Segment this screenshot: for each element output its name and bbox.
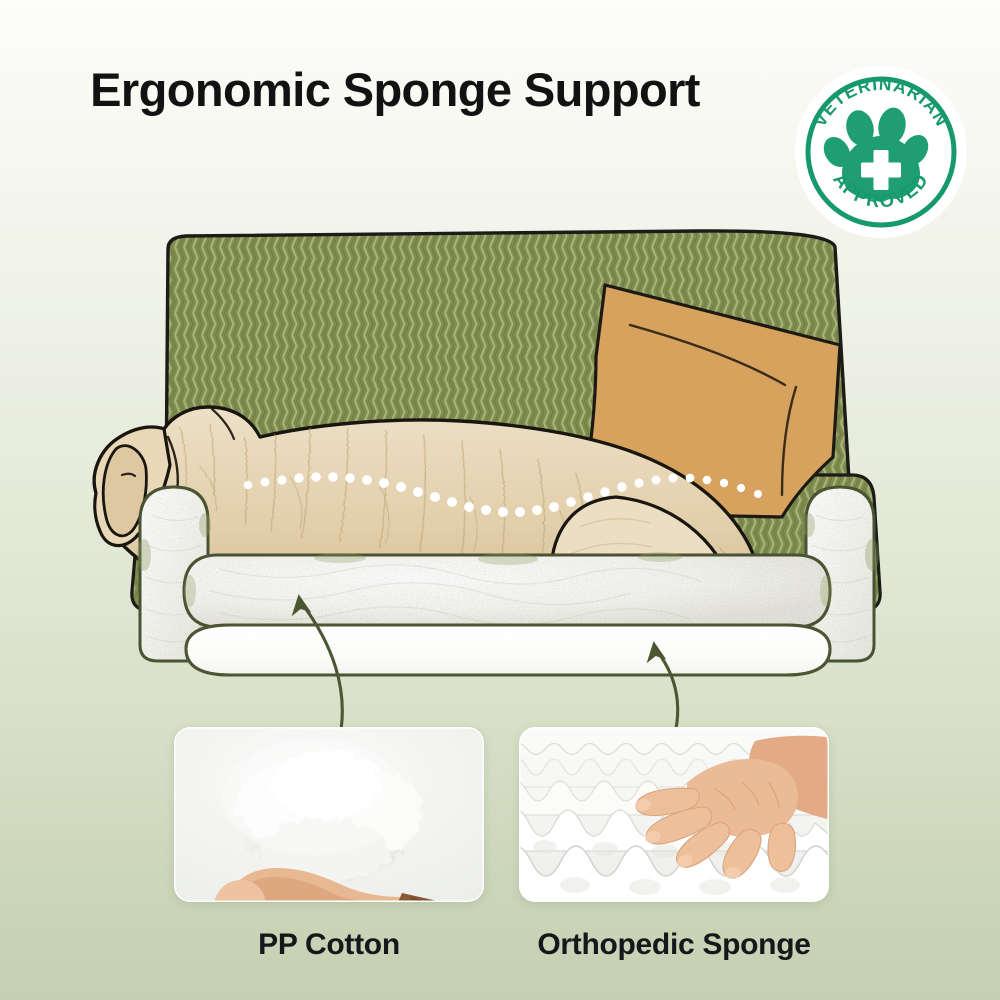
caption-pp-cotton: PP Cotton	[174, 928, 484, 962]
pp-cotton-cushion-layer	[184, 552, 832, 627]
dog-bed-cutaway-illustration	[40, 225, 960, 695]
infographic-canvas: Ergonomic Sponge Support	[0, 0, 1000, 1000]
caption-orthopedic-sponge: Orthopedic Sponge	[519, 928, 829, 962]
veterinarian-approved-badge: VETERINARIAN APPROVED	[795, 66, 967, 238]
orthopedic-sponge-layer	[186, 625, 830, 675]
pp-cotton-photo-card[interactable]	[174, 727, 484, 902]
orthopedic-sponge-photo-card[interactable]	[519, 727, 829, 902]
page-title: Ergonomic Sponge Support	[0, 62, 790, 117]
